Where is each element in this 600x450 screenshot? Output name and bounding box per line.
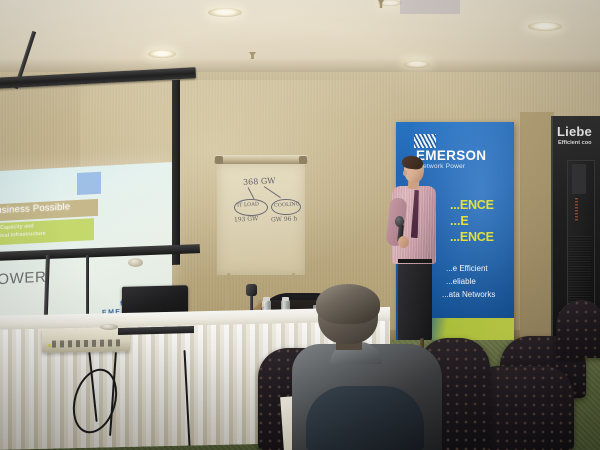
microphone-stand-head	[246, 284, 257, 296]
banner-body-1: ...e Efficient	[446, 264, 488, 273]
emerson-banner-logo-mark	[414, 134, 436, 148]
liebert-unit-grille	[569, 236, 591, 306]
projector-lens	[100, 324, 118, 330]
liebert-title: Liebe	[557, 124, 592, 139]
ceiling-downlight-1	[208, 8, 242, 17]
flipchart-note-top-figure: 368 GW	[243, 176, 276, 187]
liebert-unit-panel	[572, 164, 586, 194]
presenter-hand	[398, 236, 409, 248]
flipchart-note-value-right: GW 96 h	[271, 215, 298, 223]
presenter-ear	[403, 170, 407, 176]
audience-chair-right-3-fabric	[556, 300, 600, 358]
conference-room-photo: Liebe Efficient coo ...uture of Your Bus…	[0, 0, 600, 450]
ceiling-downlight-2	[148, 50, 176, 58]
projector-status-led	[48, 344, 51, 347]
projector-ports	[52, 339, 120, 347]
slide-blue-accent-square	[77, 172, 101, 195]
attendee-bag	[306, 386, 424, 450]
screen-pull-handle[interactable]	[128, 258, 143, 267]
flip-chart-top-rail	[214, 155, 308, 164]
screen-right-frame	[172, 80, 180, 265]
banner-body-2: ...eliable	[446, 277, 476, 286]
flipchart-note-circle-left-text: IT LOAD	[237, 201, 259, 208]
presenter-belt	[398, 259, 432, 263]
water-bottle-2-cap	[282, 297, 289, 301]
banner-headline-3: ...ENCE	[450, 230, 494, 244]
banner-body-3: ...ata Networks	[442, 290, 495, 299]
liebert-unit-leds	[575, 198, 578, 222]
flip-chart-clip-right	[299, 156, 307, 164]
wall-seam-left	[196, 78, 198, 328]
ceiling-hatch	[400, 0, 460, 14]
flipchart-note-value-left: 193 GW	[234, 215, 259, 223]
projection-screen: ...uture of Your Business Possible Maxim…	[0, 84, 190, 266]
banner-headline-2: ...E	[450, 214, 469, 228]
wall-panel-right	[520, 112, 554, 350]
slide-heading-text: AC POWER	[0, 269, 46, 291]
ceiling-downlight-3	[528, 22, 562, 31]
handheld-microphone-head	[395, 216, 404, 227]
attendee-hair	[316, 284, 380, 324]
liebert-subtitle: Efficient coo	[558, 140, 592, 146]
seated-attendee	[292, 286, 442, 450]
banner-headline-1: ...ENCE	[450, 198, 494, 212]
flip-chart-clip-left	[215, 156, 223, 164]
flip-chart-easel: 368 GW IT LOAD COOLING 193 GW GW 96 h	[214, 155, 308, 273]
water-bottle-1-cap	[263, 297, 270, 301]
